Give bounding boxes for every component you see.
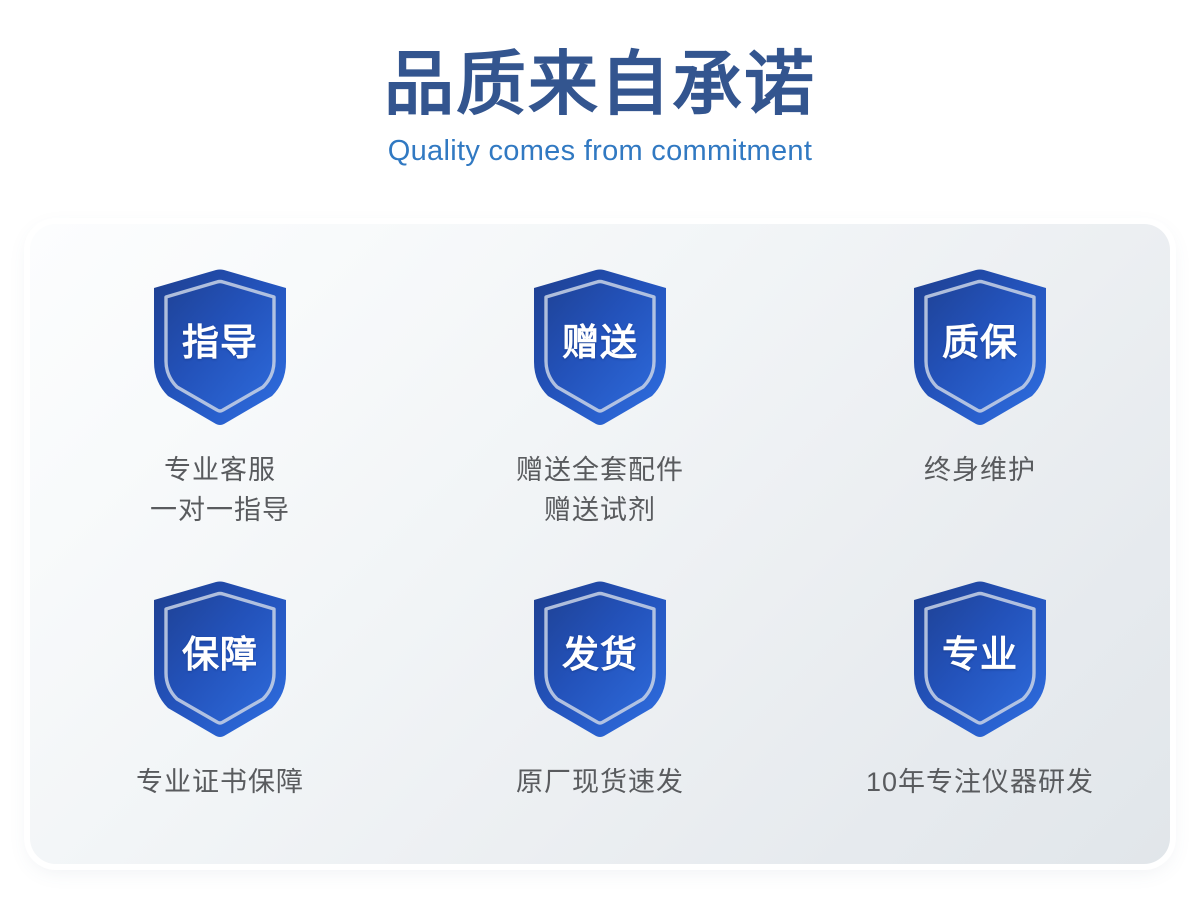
feature-caption-warranty: 终身维护: [924, 450, 1036, 490]
shield-shipping-icon: 发货: [524, 578, 676, 740]
feature-item-guidance[interactable]: 指导 专业客服一对一指导: [30, 224, 410, 544]
shield-gift-icon: 赠送: [524, 266, 676, 428]
feature-item-assurance[interactable]: 保障 专业证书保障: [30, 544, 410, 864]
feature-item-shipping[interactable]: 发货 原厂现货速发: [410, 544, 790, 864]
feature-caption-gift: 赠送全套配件赠送试剂: [516, 450, 684, 530]
page-subtitle: Quality comes from commitment: [0, 132, 1200, 170]
caption-line: 赠送试剂: [516, 490, 684, 530]
shield-warranty-icon: 质保: [904, 266, 1056, 428]
promo-page: 品质来自承诺 Quality comes from commitment 指导 …: [0, 0, 1200, 901]
caption-line: 赠送全套配件: [516, 450, 684, 490]
caption-line: 原厂现货速发: [516, 762, 684, 802]
feature-item-warranty[interactable]: 质保 终身维护: [790, 224, 1170, 544]
feature-caption-assurance: 专业证书保障: [136, 762, 304, 802]
features-card: 指导 专业客服一对一指导 赠送 赠送全套配件赠送试剂: [30, 224, 1170, 864]
shield-professional-icon: 专业: [904, 578, 1056, 740]
caption-line: 专业证书保障: [136, 762, 304, 802]
page-title: 品质来自承诺: [0, 44, 1200, 124]
caption-line: 10年专注仪器研发: [866, 762, 1094, 802]
feature-item-gift[interactable]: 赠送 赠送全套配件赠送试剂: [410, 224, 790, 544]
page-header: 品质来自承诺 Quality comes from commitment: [0, 44, 1200, 170]
shield-assurance-icon: 保障: [144, 578, 296, 740]
shield-guidance-icon: 指导: [144, 266, 296, 428]
features-grid: 指导 专业客服一对一指导 赠送 赠送全套配件赠送试剂: [30, 224, 1170, 864]
caption-line: 一对一指导: [150, 490, 290, 530]
feature-caption-professional: 10年专注仪器研发: [866, 762, 1094, 802]
caption-line: 终身维护: [924, 450, 1036, 490]
feature-caption-shipping: 原厂现货速发: [516, 762, 684, 802]
feature-caption-guidance: 专业客服一对一指导: [150, 450, 290, 530]
feature-item-professional[interactable]: 专业 10年专注仪器研发: [790, 544, 1170, 864]
caption-line: 专业客服: [150, 450, 290, 490]
